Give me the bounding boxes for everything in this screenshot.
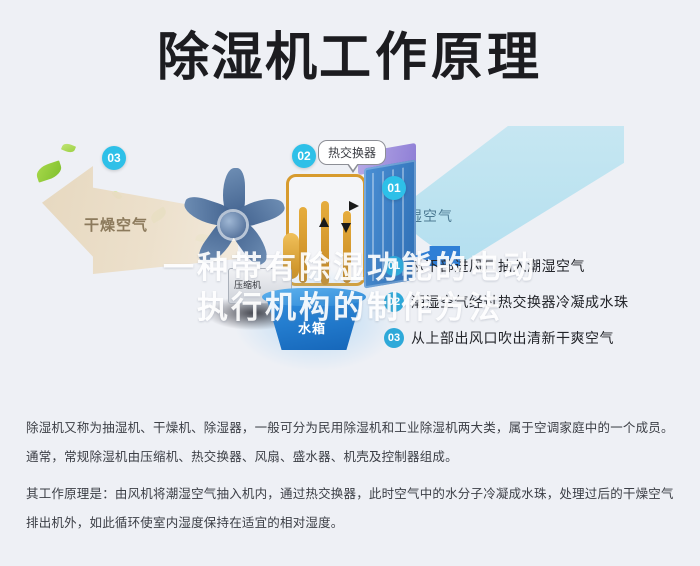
- step-number: 01: [384, 256, 404, 276]
- page-root: 除湿机工作原理 潮湿空气 干燥空气: [0, 0, 700, 566]
- dry-air-label: 干燥空气: [84, 214, 148, 235]
- step-item: 02 潮湿空气经过热交换器冷凝成水珠: [384, 292, 684, 312]
- paragraph-1-line-2: 通常，常规除湿机由压缩机、热交换器、风扇、盛水器、机壳及控制器组成。: [26, 450, 458, 464]
- paragraph-2: 其工作原理是：由风机将潮湿空气抽入机内，通过热交换器，此时空气中的水分子冷凝成水…: [26, 484, 678, 505]
- fan-icon: [178, 162, 288, 274]
- water-tank-label: 水箱: [298, 318, 326, 337]
- step-text: 从上部出风口吹出清新干爽空气: [411, 328, 614, 348]
- body-copy: 除湿机又称为抽湿机、干燥机、除湿器，一般可分为民用除湿机和工业除湿机两大类，属于…: [26, 418, 678, 542]
- step-number: 02: [384, 292, 404, 312]
- flow-arrow-right-icon: [349, 201, 359, 211]
- page-title: 除湿机工作原理: [0, 26, 700, 90]
- step-text: 从下部进风口抽入潮湿空气: [411, 256, 585, 276]
- paragraph-2-line-1: 其工作原理是：由风机将潮湿空气抽入机内，通过热交换器，此时空气中的水分子冷凝成水…: [26, 487, 674, 501]
- step-item: 03 从上部出风口吹出清新干爽空气: [384, 328, 684, 348]
- leaf-icon: [61, 142, 76, 154]
- paragraph-2b: 排出机外，如此循环使室内湿度保持在适宜的相对湿度。: [26, 513, 678, 534]
- step-text: 潮湿空气经过热交换器冷凝成水珠: [411, 292, 629, 312]
- page-title-part2: 工作原理: [319, 28, 543, 88]
- step-number: 03: [384, 328, 404, 348]
- paragraph-1-line-1: 除湿机又称为抽湿机、干燥机、除湿器，一般可分为民用除湿机和工业除湿机两大类，属于…: [26, 421, 674, 435]
- paragraph-1b: 通常，常规除湿机由压缩机、热交换器、风扇、盛水器、机壳及控制器组成。: [26, 447, 678, 468]
- steps-list: 01 从下部进风口抽入潮湿空气 02 潮湿空气经过热交换器冷凝成水珠 03 从上…: [384, 256, 684, 364]
- flow-arrow-up-icon: [319, 217, 329, 227]
- callout-badge-02: 02: [292, 144, 316, 168]
- callout-badge-03: 03: [102, 146, 126, 170]
- fan-hub: [220, 212, 246, 238]
- compressor-label: 压缩机: [234, 278, 261, 291]
- leaf-icon: [34, 160, 63, 182]
- paragraph-2-line-2: 排出机外，如此循环使室内湿度保持在适宜的相对湿度。: [26, 516, 344, 530]
- water-tank: 水箱: [260, 288, 368, 350]
- flow-arrow-down-icon: [341, 223, 351, 233]
- page-title-part1: 除湿机: [157, 28, 319, 88]
- paragraph-1: 除湿机又称为抽湿机、干燥机、除湿器，一般可分为民用除湿机和工业除湿机两大类，属于…: [26, 418, 678, 439]
- dehumidifier-diagram: 潮湿空气 干燥空气: [0, 118, 700, 403]
- water-tank-lid: [262, 288, 366, 306]
- step-item: 01 从下部进风口抽入潮湿空气: [384, 256, 684, 276]
- heat-exchanger-callout-bubble: 热交换器: [318, 140, 386, 165]
- callout-badge-01: 01: [382, 176, 406, 200]
